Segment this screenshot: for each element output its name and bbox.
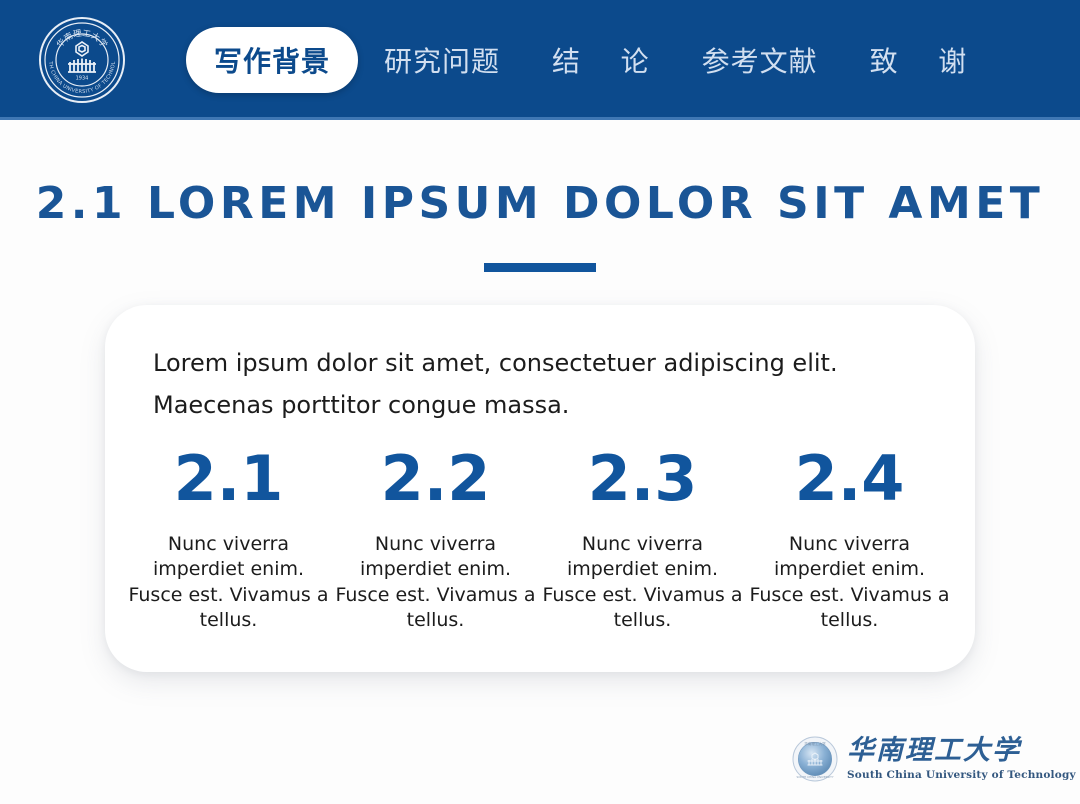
footer-name-cn: 华南理工大学	[847, 737, 1076, 764]
column-number: 2.1	[125, 448, 332, 510]
column-description: Nunc viverra imperdiet enim. Fusce est. …	[125, 532, 332, 633]
nav-item-conclusion[interactable]: 结 论	[526, 40, 676, 80]
title-underline-rule	[484, 263, 596, 272]
column-item: 2.1 Nunc viverra imperdiet enim. Fusce e…	[125, 448, 332, 633]
column-description: Nunc viverra imperdiet enim. Fusce est. …	[332, 532, 539, 633]
content-card: Lorem ipsum dolor sit amet, consectetuer…	[105, 305, 975, 672]
nav-item-research-question[interactable]: 研究问题	[358, 40, 526, 80]
slide-navigation: 写作背景 研究问题 结 论 参考文献 致 谢	[186, 0, 993, 120]
column-item: 2.3 Nunc viverra imperdiet enim. Fusce e…	[539, 448, 746, 633]
footer-logo: 华南理工大学 SOUTH CHINA UNIVERSITY 华南理工大学 Sou…	[792, 736, 1076, 782]
nav-item-acknowledgement[interactable]: 致 谢	[844, 40, 994, 80]
nav-item-writing-background[interactable]: 写作背景	[186, 27, 358, 93]
numbered-columns: 2.1 Nunc viverra imperdiet enim. Fusce e…	[125, 448, 955, 633]
column-description: Nunc viverra imperdiet enim. Fusce est. …	[539, 532, 746, 633]
column-number: 2.4	[746, 448, 953, 510]
column-item: 2.2 Nunc viverra imperdiet enim. Fusce e…	[332, 448, 539, 633]
page-title: 2.1 LOREM IPSUM DOLOR SIT AMET	[0, 178, 1080, 229]
university-seal-icon: 1934 华南理工大学 SOUTH CHINA UNIVERSITY OF TE…	[38, 16, 126, 104]
column-number: 2.3	[539, 448, 746, 510]
svg-text:华南理工大学: 华南理工大学	[54, 29, 110, 51]
title-block: 2.1 LOREM IPSUM DOLOR SIT AMET	[0, 178, 1080, 272]
column-item: 2.4 Nunc viverra imperdiet enim. Fusce e…	[746, 448, 953, 633]
presentation-slide: 1934 华南理工大学 SOUTH CHINA UNIVERSITY OF TE…	[0, 0, 1080, 804]
footer-name-en: South China University of Technology	[847, 769, 1076, 781]
slide-header: 1934 华南理工大学 SOUTH CHINA UNIVERSITY OF TE…	[0, 0, 1080, 120]
svg-text:SOUTH CHINA UNIVERSITY OF TECH: SOUTH CHINA UNIVERSITY OF TECHNOLOGY	[38, 16, 117, 95]
university-seal-icon: 华南理工大学 SOUTH CHINA UNIVERSITY	[792, 736, 838, 782]
nav-item-references[interactable]: 参考文献	[676, 40, 844, 80]
footer-text-block: 华南理工大学 South China University of Technol…	[847, 737, 1076, 781]
card-paragraph: Lorem ipsum dolor sit amet, consectetuer…	[153, 343, 943, 427]
svg-text:SOUTH CHINA UNIVERSITY: SOUTH CHINA UNIVERSITY	[796, 775, 833, 779]
svg-text:1934: 1934	[76, 76, 89, 82]
column-description: Nunc viverra imperdiet enim. Fusce est. …	[746, 532, 953, 633]
svg-text:华南理工大学: 华南理工大学	[804, 741, 826, 746]
column-number: 2.2	[332, 448, 539, 510]
